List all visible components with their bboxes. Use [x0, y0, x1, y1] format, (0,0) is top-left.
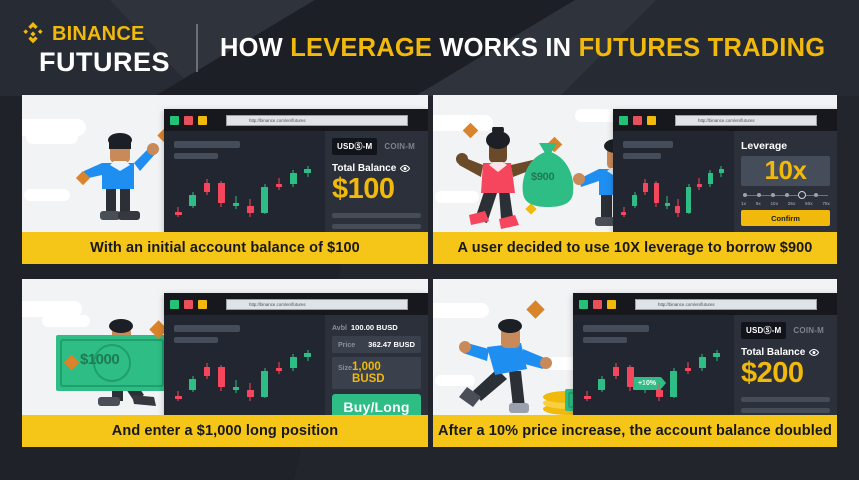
candlestick	[686, 184, 691, 214]
candlestick	[189, 192, 196, 208]
candlestick	[598, 376, 605, 392]
green-traffic-light-icon[interactable]	[579, 300, 588, 309]
title-highlight-leverage: LEVERAGE	[290, 34, 432, 62]
cloud	[24, 189, 70, 201]
browser-chrome: http://binance.com/en/futures	[164, 109, 428, 131]
leverage-slider[interactable]	[741, 191, 830, 200]
eye-icon[interactable]	[400, 165, 410, 172]
panel-2-scene: $900	[433, 95, 837, 232]
candlestick	[175, 391, 182, 401]
browser-content: USDⓈ-M COIN-M Total Balance $100	[164, 131, 428, 232]
total-balance-value: $200	[741, 359, 830, 388]
title-highlight-futures-trading: FUTURES TRADING	[579, 34, 826, 62]
title-part-2: WORKS IN	[432, 34, 579, 62]
leverage-input[interactable]: 10x	[741, 156, 830, 186]
balance-panel: USDⓈ-M COIN-M Total Balance $100	[325, 131, 428, 232]
green-traffic-light-icon[interactable]	[619, 116, 628, 125]
candlestick	[675, 199, 680, 217]
candlestick	[204, 179, 211, 195]
candlestick	[276, 362, 283, 374]
candlestick	[218, 365, 225, 391]
candlestick	[247, 199, 254, 217]
panel-3-scene: $1000 http://binance.com/en/futures	[22, 279, 428, 415]
brand-logo: BINANCE FUTURES	[20, 21, 170, 76]
panel-1-caption: With an initial account balance of $100	[22, 232, 428, 264]
panel-2: $900	[433, 95, 837, 264]
red-traffic-light-icon[interactable]	[184, 300, 193, 309]
price-input[interactable]: Price 362.47 BUSD	[332, 336, 421, 353]
candlestick	[304, 350, 311, 360]
url-bar[interactable]: http://binance.com/en/futures	[635, 299, 817, 310]
yellow-traffic-light-icon[interactable]	[198, 300, 207, 309]
candlestick	[643, 179, 648, 195]
candlestick	[204, 363, 211, 379]
candlestick	[261, 184, 268, 214]
browser-chrome: http://binance.com/en/futures	[573, 293, 837, 315]
candlestick	[642, 380, 649, 393]
candlestick	[189, 376, 196, 392]
green-traffic-light-icon[interactable]	[170, 300, 179, 309]
candlestick	[247, 383, 254, 401]
candlestick	[654, 181, 659, 207]
candlestick	[175, 207, 182, 217]
leverage-value: 10x	[741, 157, 830, 184]
tick: 10x	[770, 201, 778, 206]
candlestick	[627, 365, 634, 391]
candlestick	[276, 178, 283, 190]
url-bar[interactable]: http://binance.com/en/futures	[226, 299, 408, 310]
red-traffic-light-icon[interactable]	[184, 116, 193, 125]
leverage-label: Leverage	[741, 140, 830, 152]
leverage-panel: Leverage 10x	[734, 131, 837, 232]
candlestick	[621, 207, 626, 217]
panel-3: $1000 http://binance.com/en/futures	[22, 279, 428, 447]
leverage-tick-labels: 1x 5x 10x 25x 50x 75x	[741, 201, 830, 206]
header-divider	[196, 24, 198, 72]
candlestick	[665, 196, 670, 209]
panel-4: $ http://binance.com/en/futures +10%	[433, 279, 837, 447]
eye-icon[interactable]	[809, 349, 819, 356]
tab-coin-m[interactable]: COIN-M	[793, 326, 824, 335]
size-label: Size	[338, 365, 352, 372]
size-value: 1,000 BUSD	[352, 361, 415, 385]
page-header: BINANCE FUTURES HOW LEVERAGE WORKS IN FU…	[0, 0, 859, 96]
order-form-panel: Avbl 100.00 BUSD Price 362.47 BUSD Size …	[325, 315, 428, 415]
candlestick	[613, 363, 620, 379]
yellow-traffic-light-icon[interactable]	[647, 116, 656, 125]
cloud	[26, 131, 78, 144]
candlestick	[708, 170, 713, 187]
tab-usd-m[interactable]: USDⓈ-M	[332, 138, 377, 155]
candlestick	[632, 192, 637, 208]
red-traffic-light-icon[interactable]	[633, 116, 642, 125]
tick: 1x	[741, 201, 746, 206]
yellow-traffic-light-icon[interactable]	[607, 300, 616, 309]
candlestick	[719, 166, 724, 176]
browser-content: +10% USDⓈ-M COIN-M Total Balance	[573, 315, 837, 415]
tick: 50x	[805, 201, 813, 206]
candlestick	[304, 166, 311, 176]
brand-name-bottom: FUTURES	[39, 49, 170, 76]
panel-1: http://binance.com/en/futures USDⓈ-M COI…	[22, 95, 428, 264]
total-balance-value: $100	[332, 175, 421, 204]
browser-content: Leverage 10x	[613, 131, 837, 232]
candlestick-chart: +10%	[573, 315, 734, 415]
candlestick	[233, 380, 240, 393]
price-value: 362.47 BUSD	[368, 340, 415, 349]
candlestick	[218, 181, 225, 207]
buy-long-button[interactable]: Buy/Long	[332, 394, 421, 415]
browser-chrome: http://binance.com/en/futures	[164, 293, 428, 315]
candlestick	[697, 178, 702, 190]
browser-window: http://binance.com/en/futures +10% USDⓈ-…	[573, 293, 837, 415]
panel-3-caption: And enter a $1,000 long position	[22, 415, 428, 447]
tab-coin-m[interactable]: COIN-M	[384, 142, 415, 151]
tick: 75x	[822, 201, 830, 206]
candlestick	[656, 383, 663, 401]
money-bag-amount: $900	[531, 171, 554, 183]
tick: 5x	[756, 201, 761, 206]
binance-diamond-icon	[20, 21, 46, 47]
avbl-value: 100.00 BUSD	[351, 323, 398, 332]
candlestick	[699, 354, 706, 371]
candlestick	[685, 362, 692, 374]
panel-4-scene: $ http://binance.com/en/futures +10%	[433, 279, 837, 415]
panel-2-caption: A user decided to use 10X leverage to bo…	[433, 232, 837, 264]
url-bar[interactable]: http://binance.com/en/futures	[226, 115, 408, 126]
candlestick	[713, 350, 720, 360]
candlestick-chart	[164, 131, 325, 232]
infographic-root: BINANCE FUTURES HOW LEVERAGE WORKS IN FU…	[0, 0, 859, 480]
candlestick-chart	[164, 315, 325, 415]
banknote-amount: $1000	[80, 351, 119, 368]
candlestick	[290, 354, 297, 371]
brand-name-top: BINANCE	[52, 24, 145, 44]
candlestick	[261, 368, 268, 398]
panel-4-caption: After a 10% price increase, the account …	[433, 415, 837, 447]
browser-window: http://binance.com/en/futures Avbl 100.0…	[164, 293, 428, 415]
red-traffic-light-icon[interactable]	[593, 300, 602, 309]
browser-window: http://binance.com/en/futures USDⓈ-M COI…	[164, 109, 428, 232]
price-label: Price	[338, 342, 355, 349]
panel-1-scene: http://binance.com/en/futures USDⓈ-M COI…	[22, 95, 428, 232]
page-title: HOW LEVERAGE WORKS IN FUTURES TRADING	[220, 34, 825, 63]
browser-content: Avbl 100.00 BUSD Price 362.47 BUSD Size …	[164, 315, 428, 415]
avbl-label: Avbl	[332, 325, 347, 332]
size-input[interactable]: Size 1,000 BUSD	[332, 357, 421, 389]
candlestick-chart	[613, 131, 734, 232]
green-traffic-light-icon[interactable]	[170, 116, 179, 125]
candlestick	[290, 170, 297, 187]
available-balance-row: Avbl 100.00 BUSD	[332, 323, 421, 332]
candlestick	[670, 368, 677, 398]
balance-panel: USDⓈ-M COIN-M Total Balance $200	[734, 315, 837, 415]
tab-usd-m[interactable]: USDⓈ-M	[741, 322, 786, 339]
yellow-traffic-light-icon[interactable]	[198, 116, 207, 125]
browser-window: http://binance.com/en/futures Leverage 1…	[613, 109, 837, 232]
url-bar[interactable]: http://binance.com/en/futures	[675, 115, 817, 126]
candlestick	[233, 196, 240, 209]
candlestick	[584, 391, 591, 401]
title-part-1: HOW	[220, 34, 290, 62]
confirm-button[interactable]: Confirm	[741, 210, 830, 226]
browser-chrome: http://binance.com/en/futures	[613, 109, 837, 131]
tick: 25x	[788, 201, 796, 206]
slider-knob[interactable]	[798, 191, 806, 199]
